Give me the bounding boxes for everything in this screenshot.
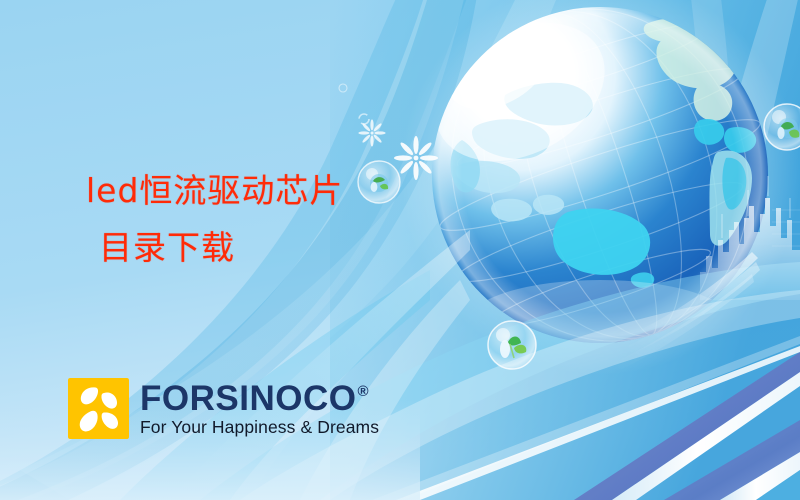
bubble-with-globe-icon	[358, 161, 400, 203]
banner-image: led恒流驱动芯片 目录下载 FORSINOCO ® For Your Happ…	[0, 0, 800, 500]
headline-text: led恒流驱动芯片 目录下载	[86, 162, 343, 276]
logo-wordmark: FORSINOCO	[140, 383, 356, 415]
logo-tagline: For Your Happiness & Dreams	[140, 417, 379, 438]
registered-trademark-icon: ®	[357, 384, 368, 399]
company-logo[interactable]: FORSINOCO ® For Your Happiness & Dreams	[68, 378, 379, 439]
bubble-with-leaf-icon	[488, 321, 536, 369]
headline-line-1: led恒流驱动芯片	[86, 162, 343, 219]
four-petal-pinwheel-icon	[68, 378, 129, 439]
logo-text-block: FORSINOCO ® For Your Happiness & Dreams	[140, 383, 379, 438]
headline-line-2: 目录下载	[86, 219, 343, 276]
